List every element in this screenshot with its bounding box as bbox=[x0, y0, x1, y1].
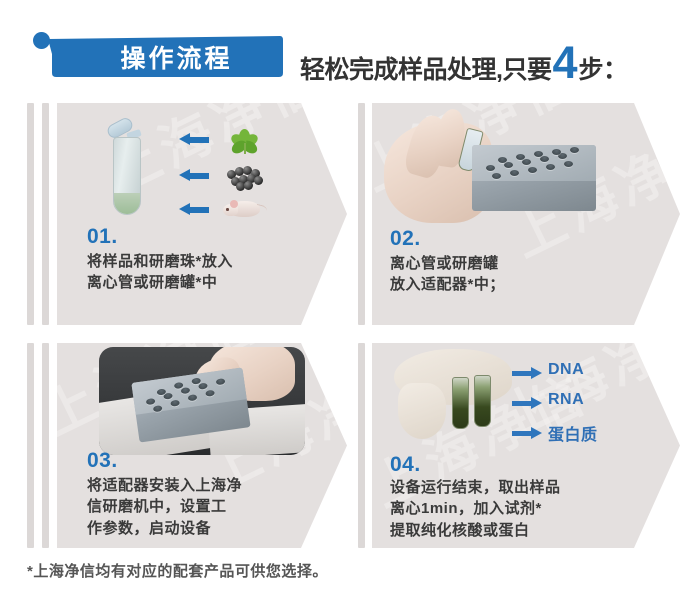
accent-bar bbox=[358, 103, 365, 325]
step-number: 02. bbox=[390, 227, 421, 251]
step-number: 04. bbox=[390, 453, 421, 477]
section-banner-label: 操作流程 bbox=[48, 33, 283, 80]
headline-prefix: 轻松完成样品处理,只要 bbox=[300, 58, 551, 83]
accent-bar bbox=[42, 103, 49, 325]
step-description: 将适配器安装入上海净 信研磨机中，设置工 作参数，启动设备 bbox=[87, 475, 327, 539]
output-label-protein: 蛋白质 bbox=[548, 421, 598, 445]
infographic-page: 操作流程 轻松完成样品处理,只要 4 步： 上海净信 bbox=[0, 0, 700, 613]
step-card-04: 上海净信 上海净信 DNA RNA bbox=[358, 343, 680, 548]
output-label-rna: RNA bbox=[548, 391, 584, 409]
step-card-02: 上海净信 上海净信 bbox=[358, 103, 680, 325]
arrow-right-icon bbox=[512, 397, 542, 409]
grinding-beads-icon bbox=[225, 163, 263, 187]
mouse-icon bbox=[223, 195, 265, 219]
step-card-body: 上海净信 bbox=[57, 103, 347, 325]
steps-grid: 上海净信 bbox=[0, 95, 700, 555]
step-description: 设备运行结束，取出样品 离心1min，加入试剂* 提取纯化核酸或蛋白 bbox=[390, 477, 640, 541]
centrifuge-tube-icon bbox=[101, 119, 155, 219]
headline-suffix: 步： bbox=[578, 58, 627, 83]
sample-tube-icon bbox=[452, 377, 469, 429]
sample-tube-icon bbox=[474, 375, 491, 427]
adapter-block-icon bbox=[472, 145, 596, 211]
step-card-body: 上海净信 上海净信 DNA RNA bbox=[372, 343, 680, 548]
arrow-left-icon bbox=[179, 203, 209, 216]
step-card-03: 上海净信 上海净信 bbox=[27, 343, 347, 548]
arrow-left-icon bbox=[179, 133, 209, 146]
step-card-01: 上海净信 bbox=[27, 103, 347, 325]
header: 操作流程 轻松完成样品处理,只要 4 步： bbox=[0, 0, 700, 95]
accent-bar bbox=[27, 103, 34, 325]
arrow-right-icon bbox=[512, 367, 542, 379]
step-description: 离心管或研磨罐 放入适配器*中； bbox=[390, 253, 630, 296]
step-01-illustration bbox=[87, 115, 327, 223]
headline-number: 4 bbox=[552, 44, 577, 83]
step-02-photo bbox=[384, 107, 614, 229]
gloved-thumb-icon bbox=[398, 383, 446, 439]
step-description: 将样品和研磨珠*放入 离心管或研磨罐*中 bbox=[87, 251, 323, 294]
accent-bar bbox=[358, 343, 365, 548]
step-number: 01. bbox=[87, 225, 118, 249]
step-number: 03. bbox=[87, 449, 118, 473]
headline: 轻松完成样品处理,只要 4 步： bbox=[300, 38, 695, 83]
footer-note: *上海净信均有对应的配套产品可供您选择。 bbox=[27, 560, 667, 581]
arrow-left-icon bbox=[179, 169, 209, 182]
accent-bar bbox=[27, 343, 34, 548]
section-banner: 操作流程 bbox=[48, 33, 283, 80]
step-card-body: 上海净信 上海净信 bbox=[372, 103, 680, 325]
step-03-photo bbox=[99, 347, 305, 455]
step-card-body: 上海净信 上海净信 bbox=[57, 343, 347, 548]
output-label-dna: DNA bbox=[548, 361, 584, 379]
plant-leaf-icon bbox=[227, 125, 261, 155]
accent-bar bbox=[42, 343, 49, 548]
arrow-right-icon bbox=[512, 427, 542, 439]
